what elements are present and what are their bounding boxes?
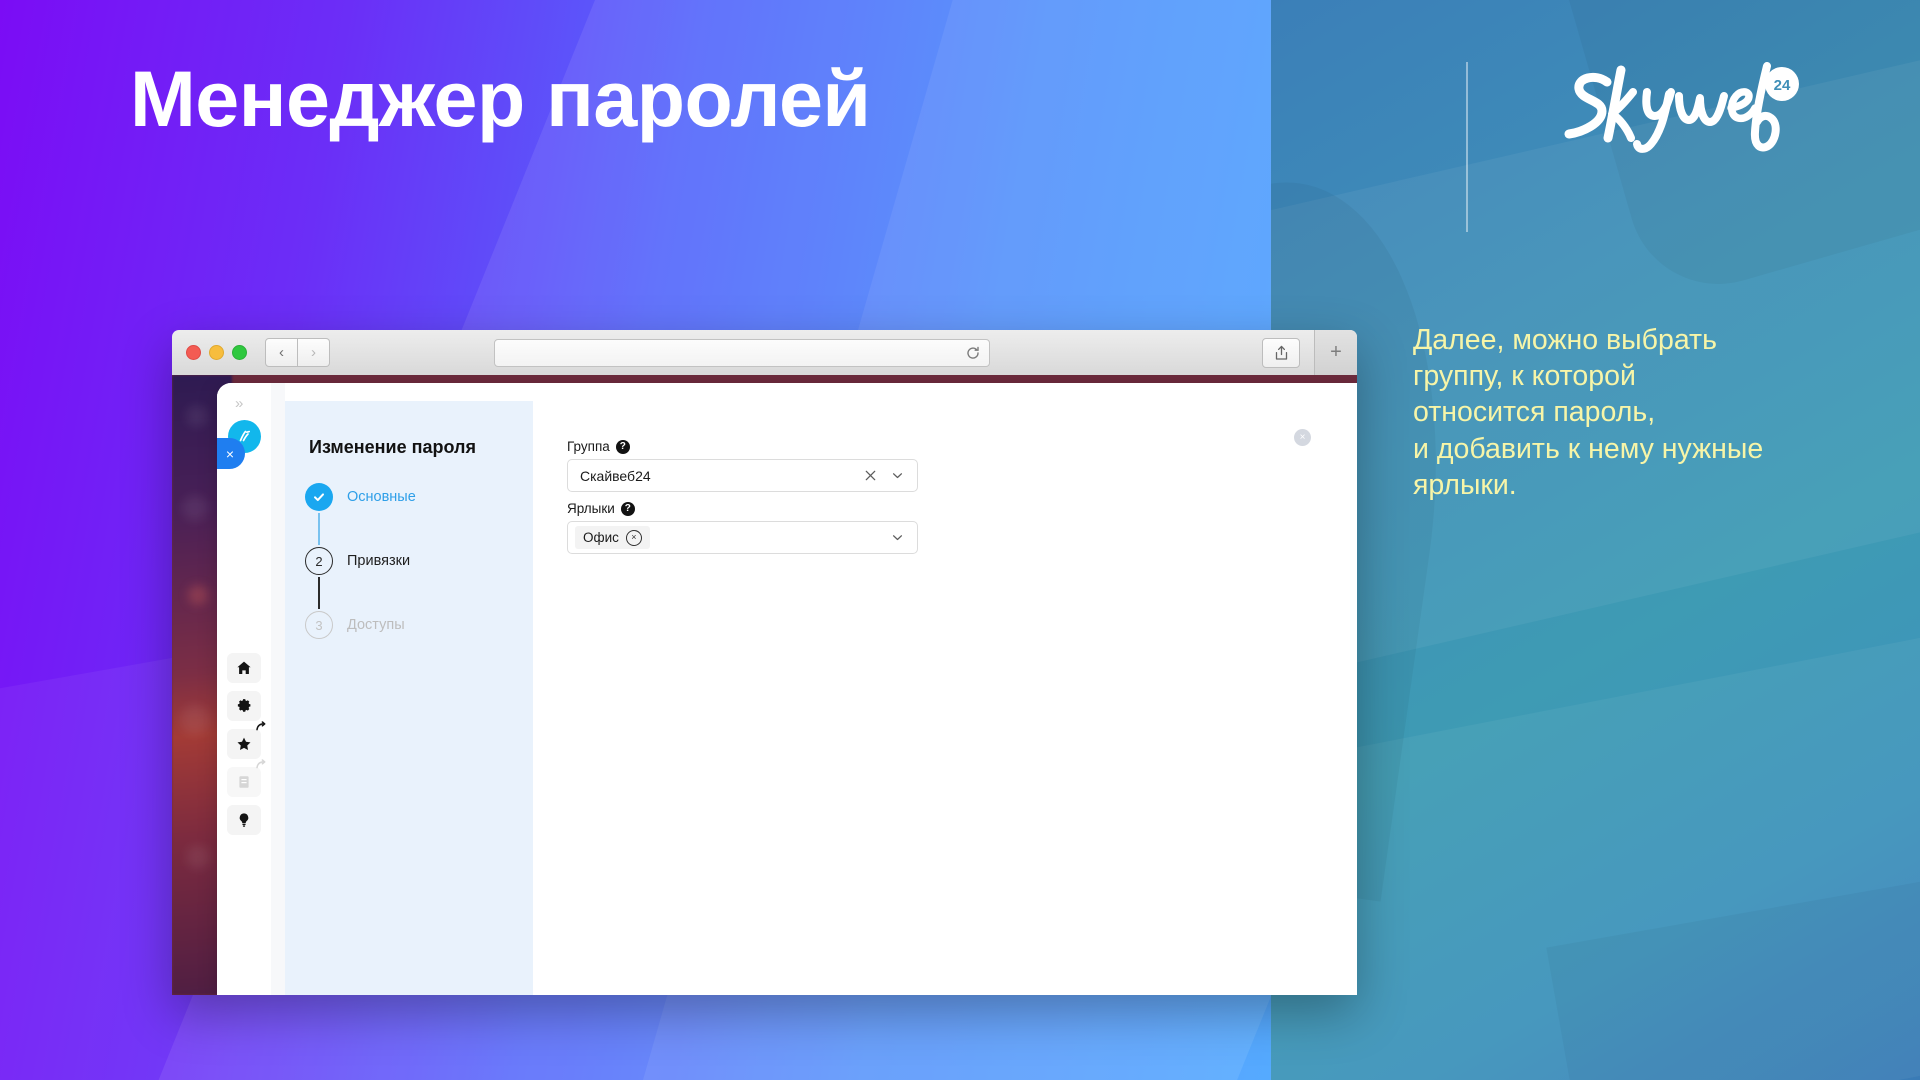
form-panel: × Группа ? Скайвеб24 bbox=[533, 401, 1357, 995]
wallpaper-speck bbox=[188, 585, 208, 605]
help-icon[interactable]: ? bbox=[621, 502, 635, 516]
slide-headline: Менеджер паролей bbox=[130, 58, 1140, 141]
logo-divider bbox=[1466, 62, 1468, 232]
right-background-panel bbox=[1271, 0, 1920, 1080]
tag-chip-label: Офис bbox=[583, 530, 619, 545]
slide-caption: Далее, можно выбрать группу, к которой о… bbox=[1413, 322, 1883, 503]
settings-gear-icon[interactable] bbox=[227, 691, 261, 721]
wallpaper-speck bbox=[186, 845, 210, 869]
step-label: Доступы bbox=[347, 617, 405, 633]
step-marker-done bbox=[305, 483, 333, 511]
close-window-button[interactable] bbox=[186, 345, 201, 360]
address-bar[interactable] bbox=[494, 339, 990, 367]
close-form-button[interactable]: × bbox=[1294, 429, 1311, 446]
share-arrow-icon bbox=[256, 759, 267, 769]
window-controls[interactable] bbox=[186, 345, 247, 360]
check-icon bbox=[312, 490, 326, 504]
step-label: Основные bbox=[347, 489, 416, 505]
wallpaper-speck bbox=[182, 495, 208, 521]
chevron-down-icon[interactable] bbox=[891, 531, 904, 544]
wallpaper-speck bbox=[186, 405, 208, 427]
share-arrow-icon bbox=[256, 721, 267, 731]
new-tab-button[interactable]: + bbox=[1314, 330, 1357, 375]
back-button[interactable]: ‹ bbox=[265, 338, 298, 367]
star-icon[interactable] bbox=[227, 729, 261, 759]
remove-tag-icon[interactable]: × bbox=[626, 530, 642, 546]
tags-field-label: Ярлыки ? bbox=[567, 501, 635, 516]
navigation-buttons[interactable]: ‹ › bbox=[265, 338, 330, 367]
step-item-osnovnye[interactable]: Основные bbox=[305, 481, 416, 513]
page-title: Изменение пароля bbox=[309, 437, 476, 458]
step-marker-disabled: 3 bbox=[305, 611, 333, 639]
group-label-text: Группа bbox=[567, 439, 610, 454]
password-manager-app: » bbox=[217, 383, 1357, 995]
help-icon[interactable]: ? bbox=[616, 440, 630, 454]
group-select[interactable]: Скайвеб24 bbox=[567, 459, 918, 492]
step-connector bbox=[318, 577, 320, 609]
caption-line: ярлыки. bbox=[1413, 467, 1883, 503]
slide-root: Менеджер паролей bbox=[0, 0, 1920, 1080]
wallpaper-speck bbox=[180, 705, 210, 735]
share-button[interactable] bbox=[1262, 338, 1300, 368]
caption-line: относится пароль, bbox=[1413, 394, 1883, 430]
browser-titlebar: ‹ › + bbox=[172, 330, 1357, 376]
step-list: Основные 2 Привязки 3 Доступы bbox=[305, 481, 416, 641]
zoom-window-button[interactable] bbox=[232, 345, 247, 360]
close-panel-button[interactable]: × bbox=[217, 438, 245, 469]
sidebar-icon-list bbox=[227, 653, 261, 835]
caption-line: Далее, можно выбрать bbox=[1413, 322, 1883, 358]
expand-sidebar-icon[interactable]: » bbox=[235, 395, 241, 412]
home-icon[interactable] bbox=[227, 653, 261, 683]
caption-line: и добавить к нему нужные bbox=[1413, 431, 1883, 467]
step-item-privyazki[interactable]: 2 Привязки bbox=[305, 545, 416, 577]
group-select-value: Скайвеб24 bbox=[580, 468, 651, 484]
minimize-window-button[interactable] bbox=[209, 345, 224, 360]
reload-icon[interactable] bbox=[966, 346, 980, 360]
logo-badge-text: 24 bbox=[1774, 77, 1791, 94]
step-marker-current: 2 bbox=[305, 547, 333, 575]
wizard-stepper-panel: Изменение пароля Основные 2 Привязки bbox=[285, 401, 533, 995]
share-icon bbox=[1274, 345, 1289, 361]
clear-icon[interactable] bbox=[864, 469, 877, 482]
skyweb-logo: 24 bbox=[1555, 62, 1805, 157]
lightbulb-icon[interactable] bbox=[227, 805, 261, 835]
caption-line: группу, к которой bbox=[1413, 358, 1883, 394]
step-item-dostupy[interactable]: 3 Доступы bbox=[305, 609, 416, 641]
forward-button[interactable]: › bbox=[298, 338, 330, 367]
group-field-label: Группа ? bbox=[567, 439, 630, 454]
chevron-down-icon[interactable] bbox=[891, 469, 904, 482]
book-icon[interactable] bbox=[227, 767, 261, 797]
tag-chip[interactable]: Офис × bbox=[575, 526, 650, 549]
browser-window: ‹ › + bbox=[172, 330, 1357, 995]
step-connector bbox=[318, 513, 320, 545]
tags-label-text: Ярлыки bbox=[567, 501, 615, 516]
skyweb-wordmark-icon: 24 bbox=[1555, 62, 1805, 157]
app-sidebar: » bbox=[217, 383, 271, 995]
sidebar-divider bbox=[271, 383, 285, 995]
tags-select[interactable]: Офис × bbox=[567, 521, 918, 554]
tags-select-controls bbox=[891, 531, 904, 544]
group-select-controls bbox=[864, 469, 904, 482]
browser-page: » bbox=[172, 375, 1357, 995]
step-label: Привязки bbox=[347, 553, 410, 569]
